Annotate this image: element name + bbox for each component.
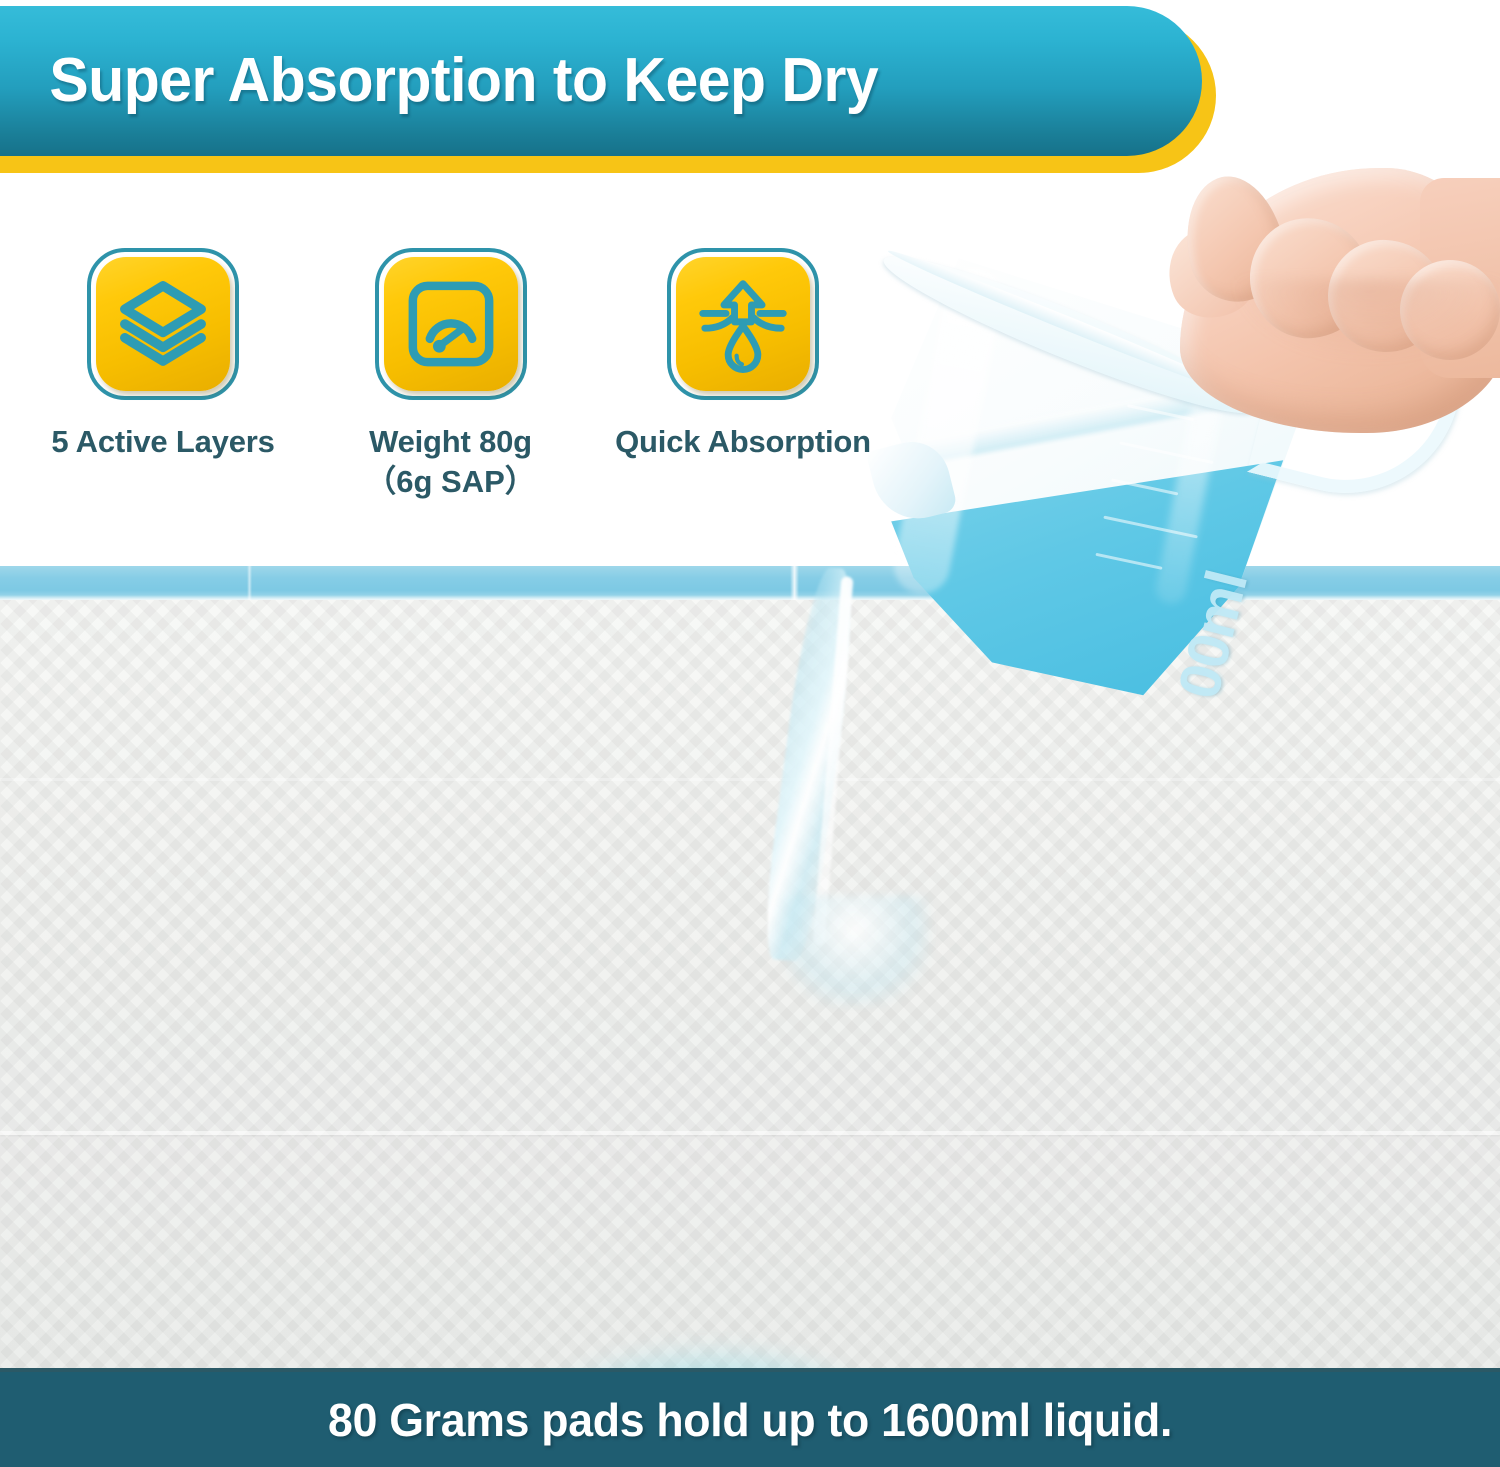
graduation-mark: [1095, 553, 1162, 570]
feature-item-absorption: Quick Absorption: [593, 248, 893, 462]
graduation-mark: [1127, 404, 1194, 421]
feature-item-weight: Weight 80g （6g SAP）: [308, 248, 593, 503]
graduation-mark: [1111, 478, 1178, 495]
gauge-weight-icon: [384, 257, 518, 391]
footer-text: 80 Grams pads hold up to 1600ml liquid.: [328, 1393, 1172, 1447]
layers-icon-frame: [87, 248, 239, 400]
header-banner-body: Super Absorption to Keep Dry: [0, 6, 1202, 156]
quick-absorption-icon: [676, 257, 810, 391]
gauge-icon-frame: [375, 248, 527, 400]
feature-label-weight: Weight 80g: [369, 422, 532, 462]
header-banner: Super Absorption to Keep Dry: [0, 0, 1252, 180]
knuckle-shading: [1235, 280, 1500, 360]
feature-item-layers: 5 Active Layers: [18, 248, 308, 462]
absorption-icon-frame: [667, 248, 819, 400]
feature-label-layers: 5 Active Layers: [51, 422, 274, 462]
feature-list: 5 Active Layers Weight 80g （6g SAP）: [18, 248, 893, 503]
layers-stack-icon: [96, 257, 230, 391]
pad-seam: [0, 1131, 1500, 1135]
pad-crease: [790, 566, 799, 600]
feature-sublabel-sap: （6g SAP）: [365, 462, 536, 502]
page-title: Super Absorption to Keep Dry: [0, 50, 878, 112]
pad-crease: [247, 566, 252, 600]
feature-label-absorption: Quick Absorption: [615, 422, 871, 462]
hand-holding-pitcher: 00ml: [880, 168, 1500, 788]
footer-banner: 80 Grams pads hold up to 1600ml liquid.: [0, 1372, 1500, 1467]
water-splash: [780, 896, 930, 1006]
product-feature-image: Super Absorption to Keep Dry: [0, 0, 1500, 1467]
